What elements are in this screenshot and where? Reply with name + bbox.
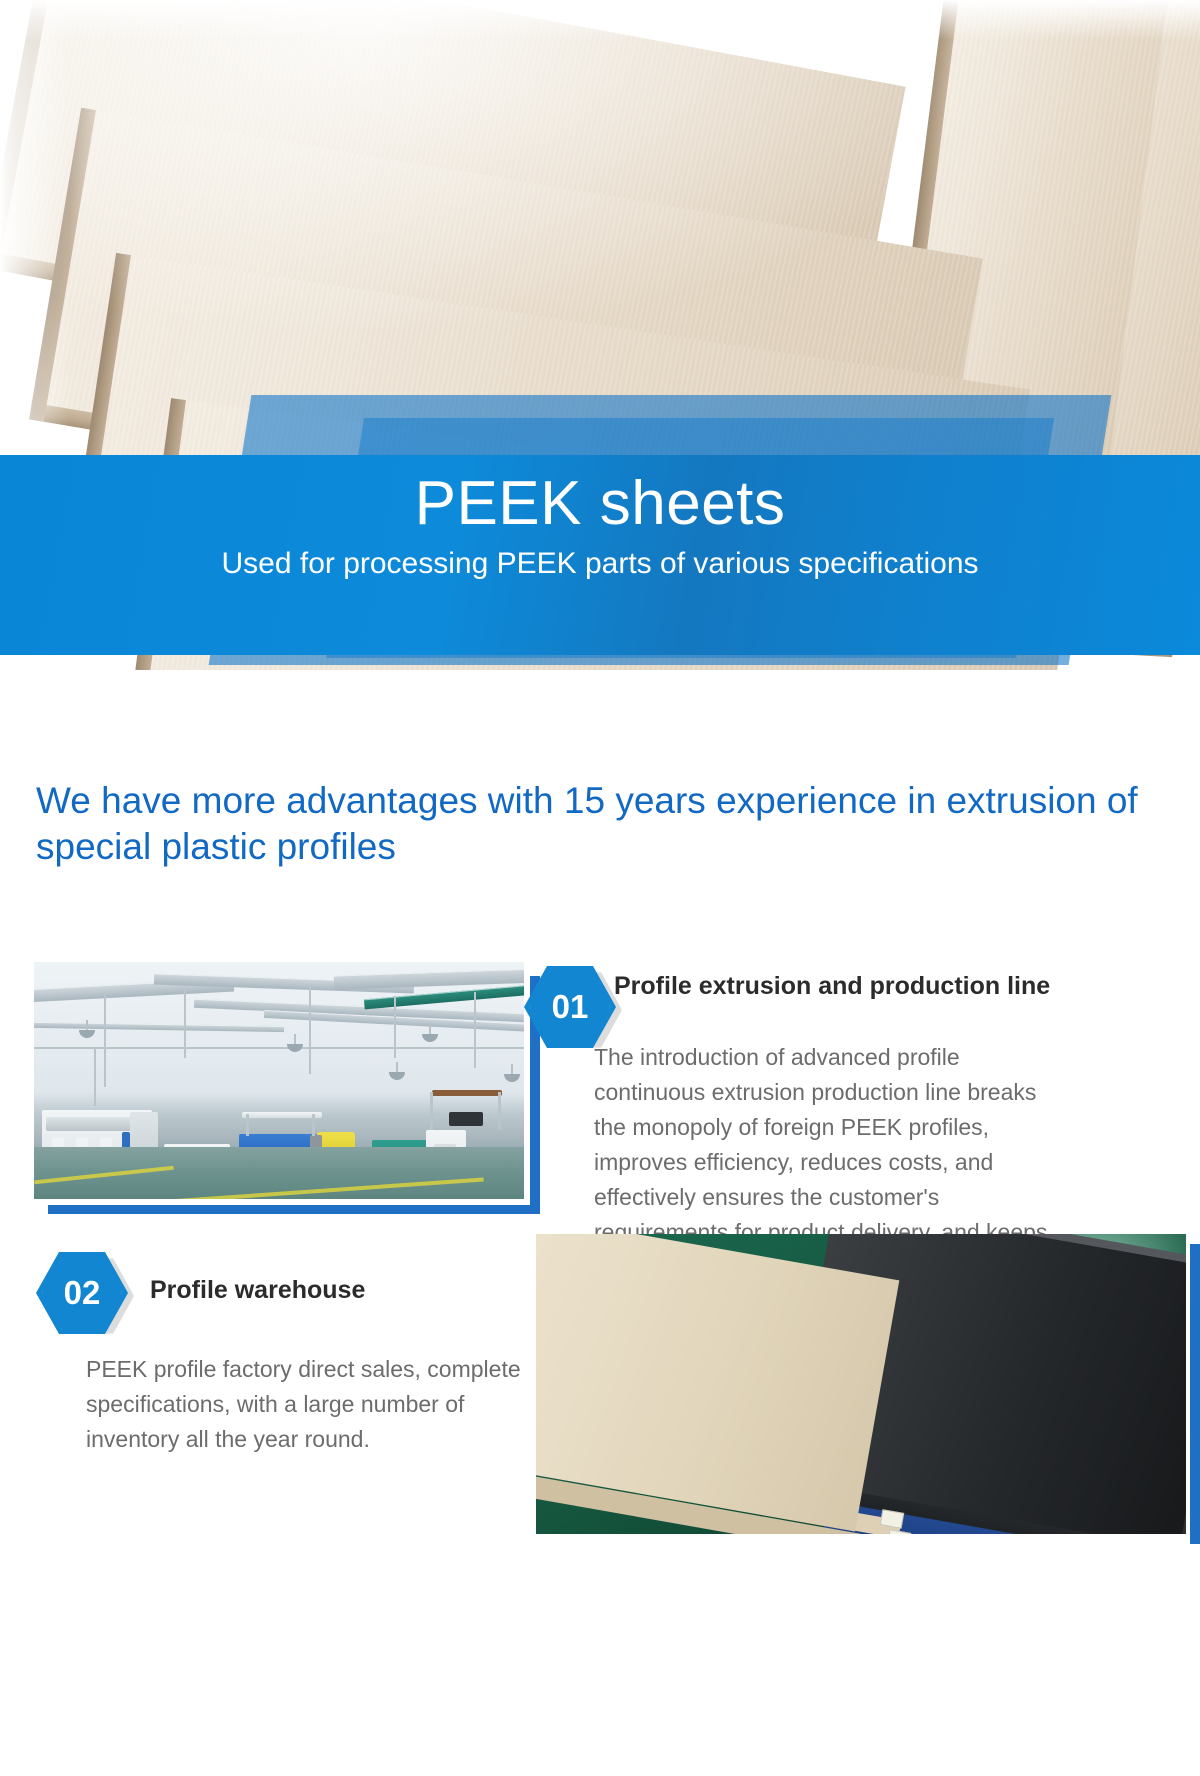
feature-02-body: PEEK profile factory direct sales, compl… [86,1352,526,1457]
feature-01-number: 01 [524,966,616,1048]
feature-01-title: Profile extrusion and production line [614,968,1062,1004]
hero-text-block: PEEK sheets Used for processing PEEK par… [0,455,1200,655]
feature-02-number: 02 [36,1252,128,1334]
frame-accent-right [1190,1244,1200,1544]
product-detail-page: PEEK sheets Used for processing PEEK par… [0,0,1200,1776]
feature-01-photo-frame [34,962,540,1214]
hero-banner: PEEK sheets Used for processing PEEK par… [0,0,1200,670]
section-headline: We have more advantages with 15 years ex… [36,778,1166,870]
feature-01-photo [34,962,524,1199]
feature-02-photo [536,1234,1186,1534]
hero-title: PEEK sheets [0,465,1200,543]
hero-subtitle: Used for processing PEEK parts of variou… [0,543,1200,585]
frame-accent-bottom [48,1205,540,1214]
feature-02-photo-frame [536,1234,1200,1544]
feature-02-badge: 02 [36,1252,134,1338]
feature-02-title: Profile warehouse [150,1272,520,1308]
